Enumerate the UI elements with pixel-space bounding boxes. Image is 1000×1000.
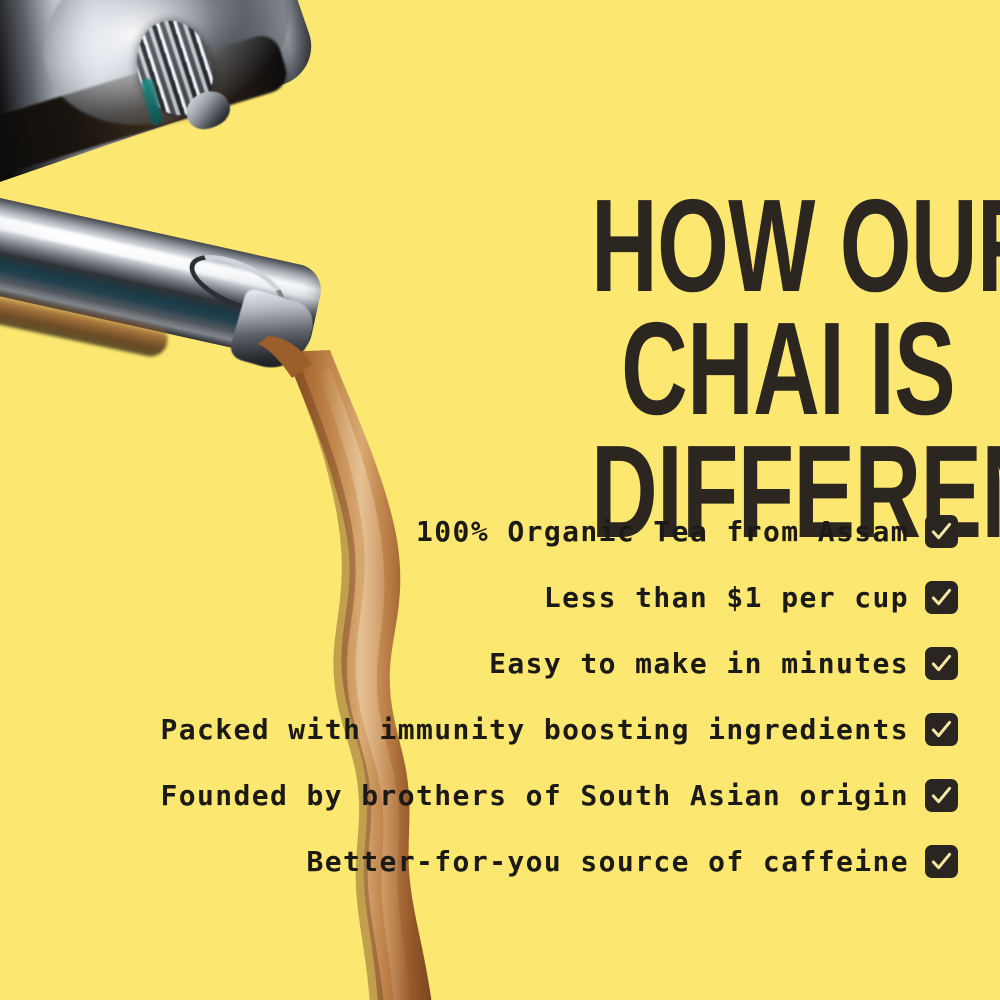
- checkbox-checked-icon: [925, 647, 958, 680]
- checkbox-checked-icon: [925, 713, 958, 746]
- list-item-label: Less than $1 per cup: [544, 581, 909, 614]
- list-item-label: Better-for-you source of caffeine: [307, 845, 910, 878]
- list-item: 100% Organic Tea from Assam: [40, 498, 958, 564]
- checkbox-checked-icon: [925, 581, 958, 614]
- headline-line-1: How Our: [591, 184, 955, 307]
- product-infographic: How Our Chai Is Different 100% Organic T…: [0, 0, 1000, 1000]
- list-item: Easy to make in minutes: [40, 630, 958, 696]
- list-item: Packed with immunity boosting ingredient…: [40, 696, 958, 762]
- benefits-checklist: 100% Organic Tea from Assam Less than $1…: [40, 498, 958, 894]
- list-item-label: Easy to make in minutes: [489, 647, 909, 680]
- list-item: Better-for-you source of caffeine: [40, 828, 958, 894]
- list-item-label: Founded by brothers of South Asian origi…: [160, 779, 909, 812]
- list-item-label: Packed with immunity boosting ingredient…: [160, 713, 909, 746]
- checkbox-checked-icon: [925, 779, 958, 812]
- text-content: How Our Chai Is Different 100% Organic T…: [0, 0, 1000, 1000]
- headline-line-2: Chai Is: [591, 307, 955, 430]
- checkbox-checked-icon: [925, 515, 958, 548]
- list-item-label: 100% Organic Tea from Assam: [416, 515, 909, 548]
- checkbox-checked-icon: [925, 845, 958, 878]
- list-item: Less than $1 per cup: [40, 564, 958, 630]
- list-item: Founded by brothers of South Asian origi…: [40, 762, 958, 828]
